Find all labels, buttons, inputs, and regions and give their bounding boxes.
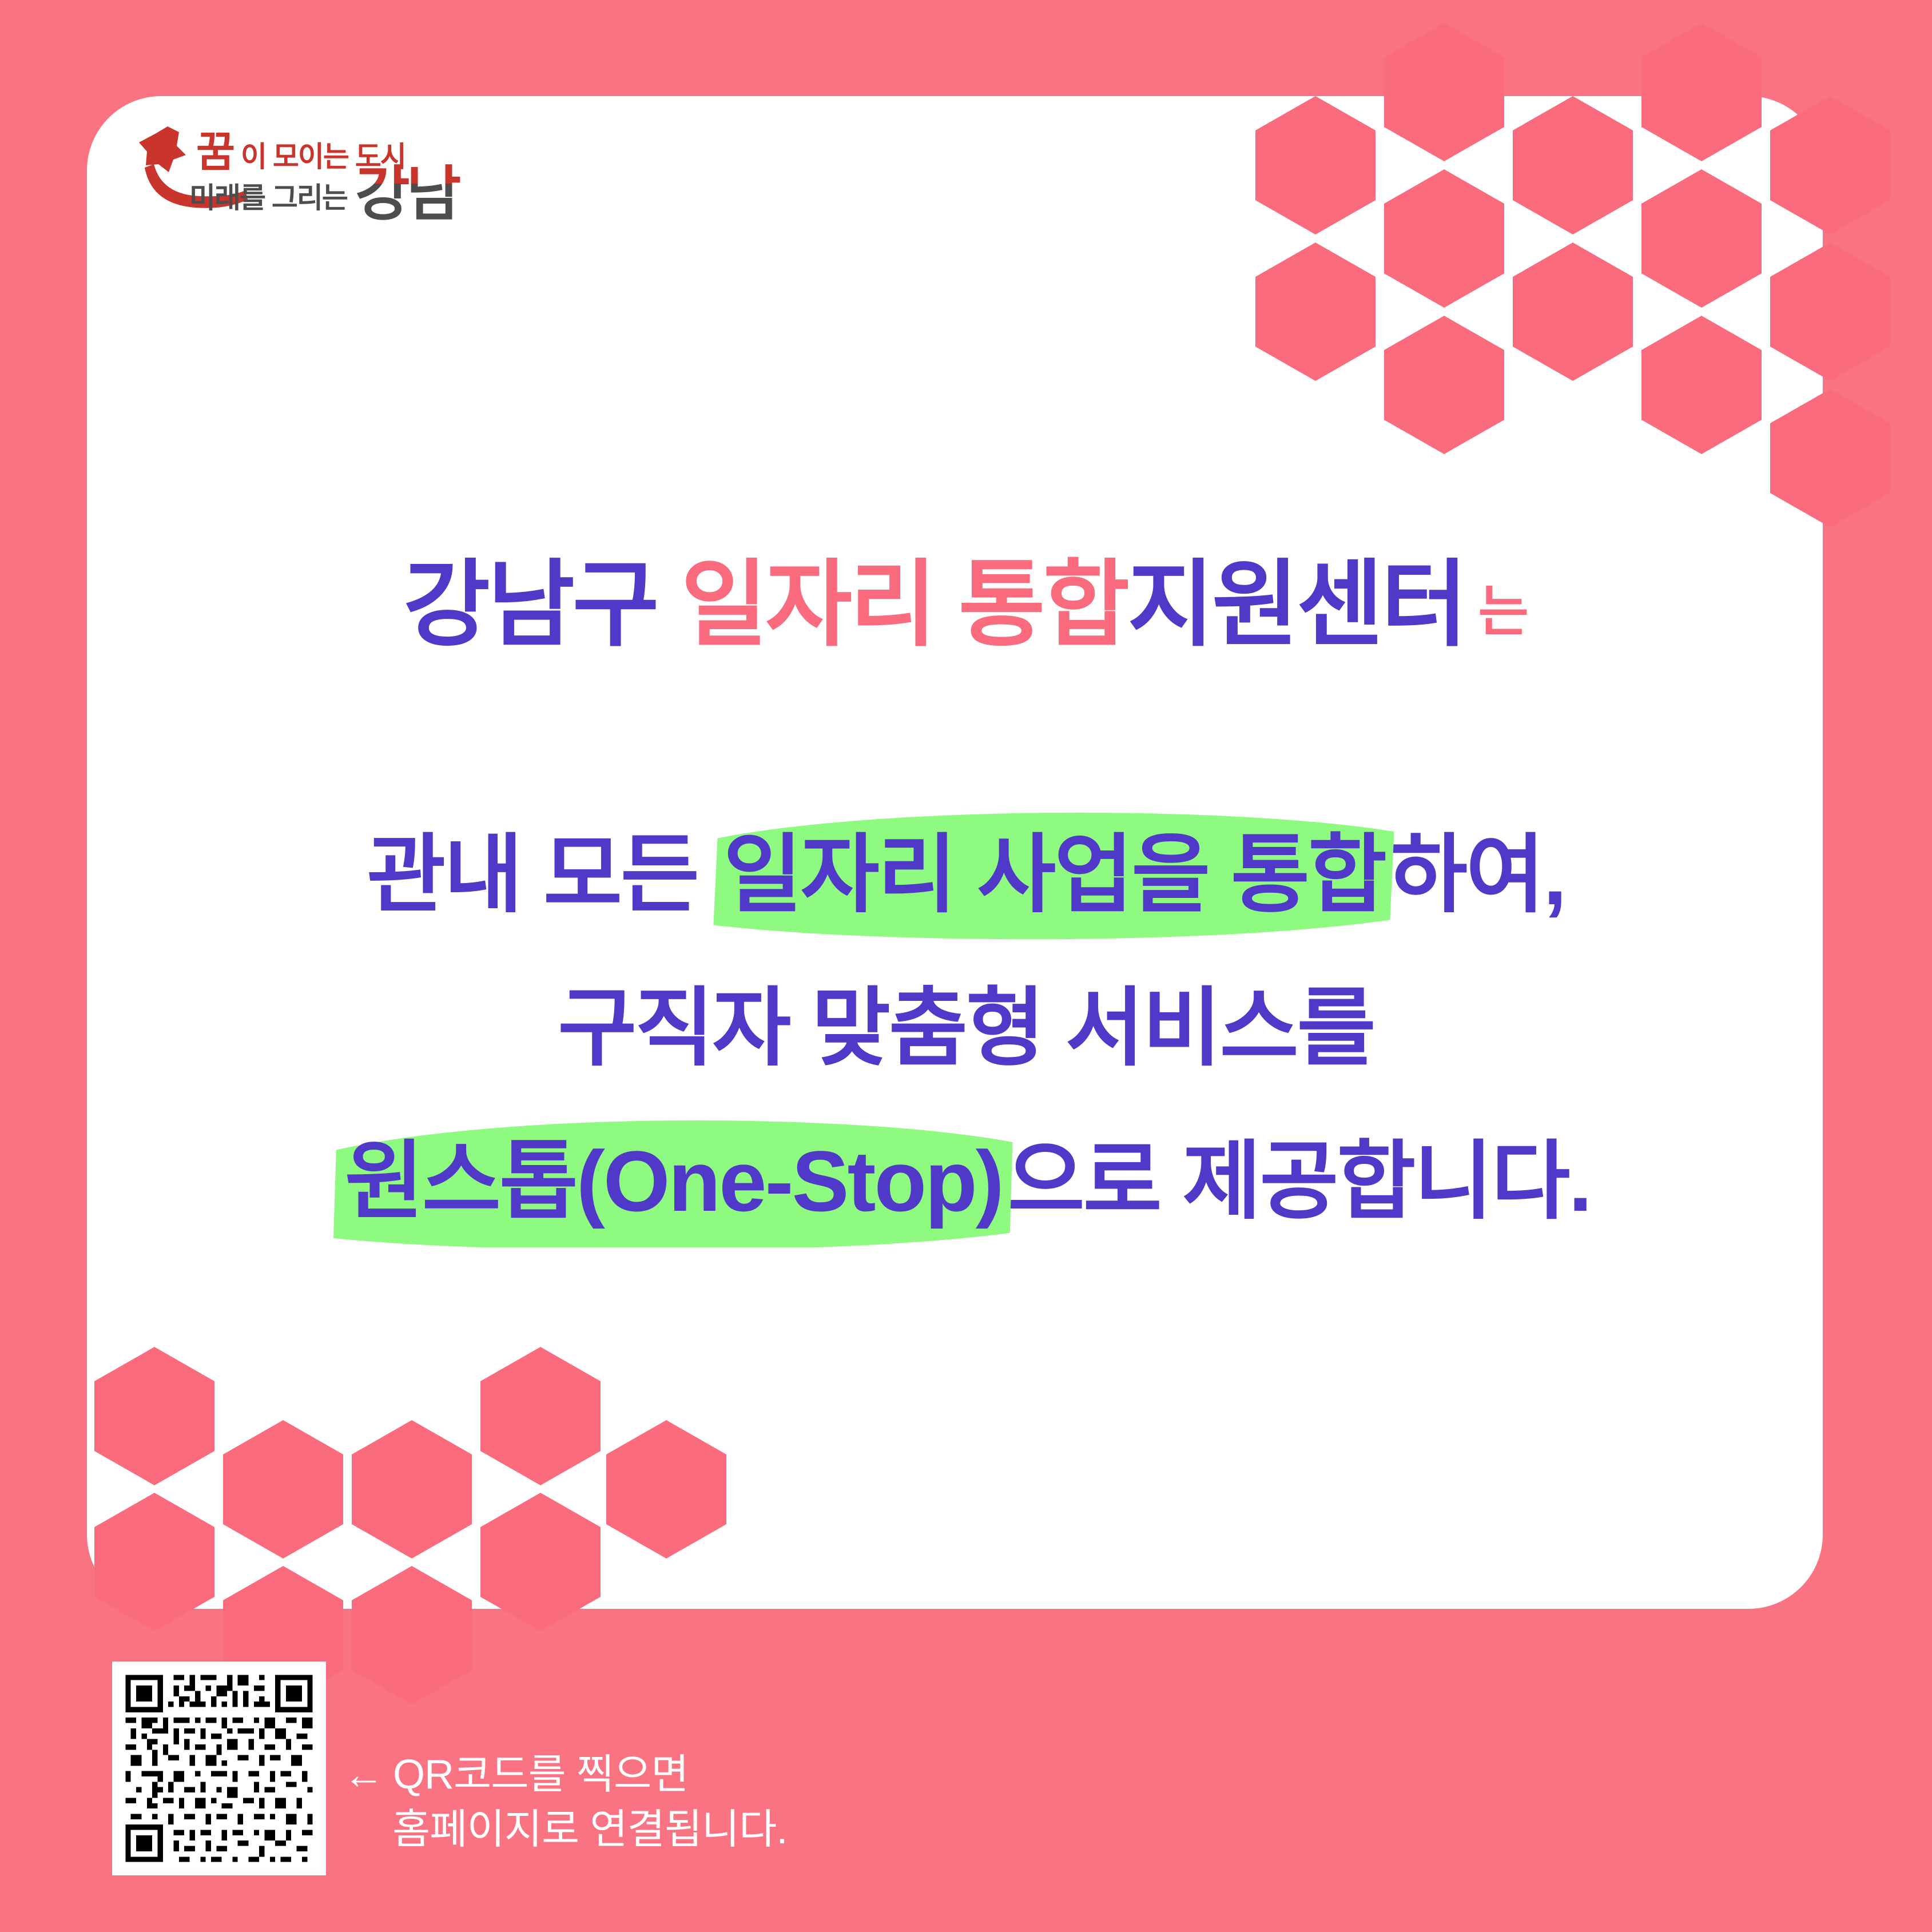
body-line-1-part-2: 일자리 사업을 통합 xyxy=(723,826,1385,923)
qr-caption-line-2: 홈페이지로 연결됩니다. xyxy=(343,1802,787,1857)
body-line-3-part-2: 으로 제공합니다. xyxy=(1006,1133,1591,1229)
headline-particle: 는 xyxy=(1478,581,1528,642)
svg-text:꿈: 꿈 xyxy=(196,128,234,176)
body-line-1-part-1: 관내 모든 xyxy=(367,826,719,923)
body-line-3: 원스톱(One-Stop)으로 제공합니다. xyxy=(0,1104,1932,1258)
page-title: 강남구 일자리 통합지원센터는 xyxy=(0,558,1932,652)
body-line-1-part-3: 하여, xyxy=(1389,826,1565,923)
highlight-phrase-1: 일자리 사업을 통합 xyxy=(720,798,1389,951)
gangnam-gu-logo: 꿈 이 모이는 도시 미래를 그리는 강남 강남 xyxy=(134,123,603,255)
arrow-left-icon: ← xyxy=(343,1752,384,1798)
headline-segment-1: 강남구 xyxy=(403,552,681,657)
svg-text:미래를 그리는: 미래를 그리는 xyxy=(189,182,348,214)
body-line-1: 관내 모든 일자리 사업을 통합하여, xyxy=(0,798,1932,951)
body-line-2: 구직자 맞춤형 서비스를 xyxy=(0,951,1932,1104)
qr-caption-line-1: ←QR코드를 찍으면 xyxy=(343,1747,787,1802)
promo-poster: 꿈 이 모이는 도시 미래를 그리는 강남 강남 강남구 일자리 통합지원센터는… xyxy=(0,0,1932,1932)
body-copy: 관내 모든 일자리 사업을 통합하여, 구직자 맞춤형 서비스를 원스톱(One… xyxy=(0,798,1932,1258)
qr-caption: ←QR코드를 찍으면 홈페이지로 연결됩니다. xyxy=(343,1747,787,1857)
headline-segment-3: 지원센터 xyxy=(1127,552,1465,657)
body-line-2-part-1: 구직자 맞춤형 서비스를 xyxy=(558,980,1374,1076)
headline-segment-2: 일자리 통합 xyxy=(681,552,1127,657)
highlight-phrase-2: 원스톱(One-Stop) xyxy=(341,1104,1006,1258)
qr-caption-text-1: QR코드를 찍으면 xyxy=(393,1752,688,1798)
qr-code-icon[interactable] xyxy=(112,1661,326,1875)
body-line-3-part-1: 원스톱(One-Stop) xyxy=(345,1133,1003,1229)
